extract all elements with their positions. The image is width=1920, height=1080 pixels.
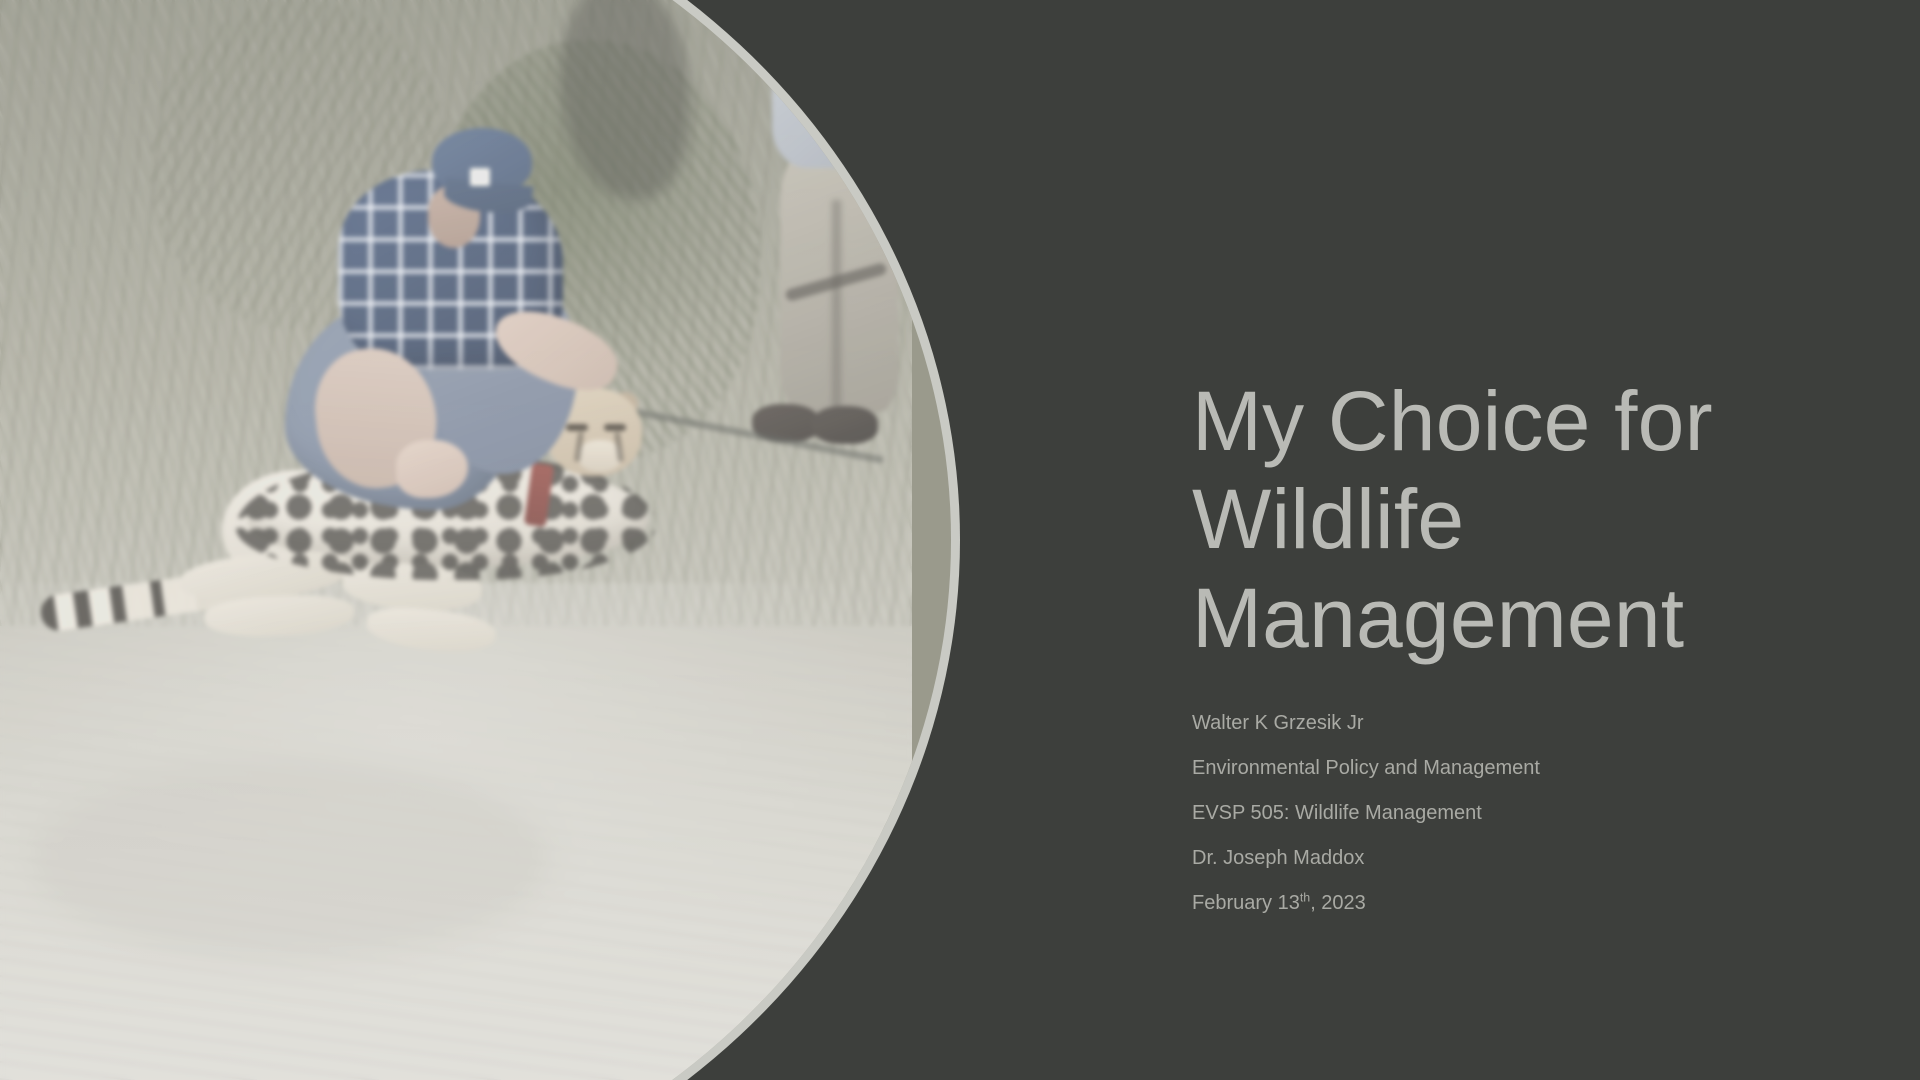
slide-subtitle-list: Walter K Grzesik Jr Environmental Policy… [1192, 713, 1832, 913]
title-line-1: My Choice for [1192, 374, 1713, 468]
photo-cheetah-eye-left [566, 424, 588, 431]
photo-standing-person-leg-gap [832, 200, 841, 408]
photo-arc-frame [0, 0, 960, 1080]
subtitle-program: Environmental Policy and Management [1192, 758, 1832, 778]
subtitle-author-text: Walter K Grzesik Jr [1192, 712, 1364, 734]
slide-text-block: My Choice forWildlifeManagement Walter K… [1192, 372, 1832, 913]
subtitle-course-text: EVSP 505: Wildlife Management [1192, 802, 1482, 824]
photo-standing-person-shoe-right [812, 406, 878, 444]
subtitle-program-text: Environmental Policy and Management [1192, 757, 1540, 779]
subtitle-date-ordinal-suffix: th [1300, 890, 1310, 904]
page-title: My Choice forWildlifeManagement [1192, 372, 1832, 667]
photo-cheetah-eye-right [604, 424, 626, 431]
title-slide: My Choice forWildlifeManagement Walter K… [0, 0, 1920, 1080]
photo-cheetah-leg [364, 603, 497, 656]
subtitle-author: Walter K Grzesik Jr [1192, 713, 1832, 733]
subtitle-instructor-text: Dr. Joseph Maddox [1192, 847, 1364, 869]
subtitle-date-year: , 2023 [1310, 892, 1366, 914]
slide-photo [0, 0, 912, 1080]
photo-arc-mask [0, 0, 951, 1080]
photo-kneeling-person-cap-patch [470, 168, 490, 186]
title-line-2: Wildlife [1192, 472, 1464, 566]
photo-standing-person-shirt [772, 8, 908, 168]
title-line-3: Management [1192, 571, 1684, 665]
subtitle-course: EVSP 505: Wildlife Management [1192, 803, 1832, 823]
subtitle-instructor: Dr. Joseph Maddox [1192, 848, 1832, 868]
photo-dirt-patch [30, 760, 550, 960]
subtitle-date: February 13th, 2023 [1192, 893, 1832, 913]
subtitle-date-text: February 13 [1192, 892, 1300, 914]
